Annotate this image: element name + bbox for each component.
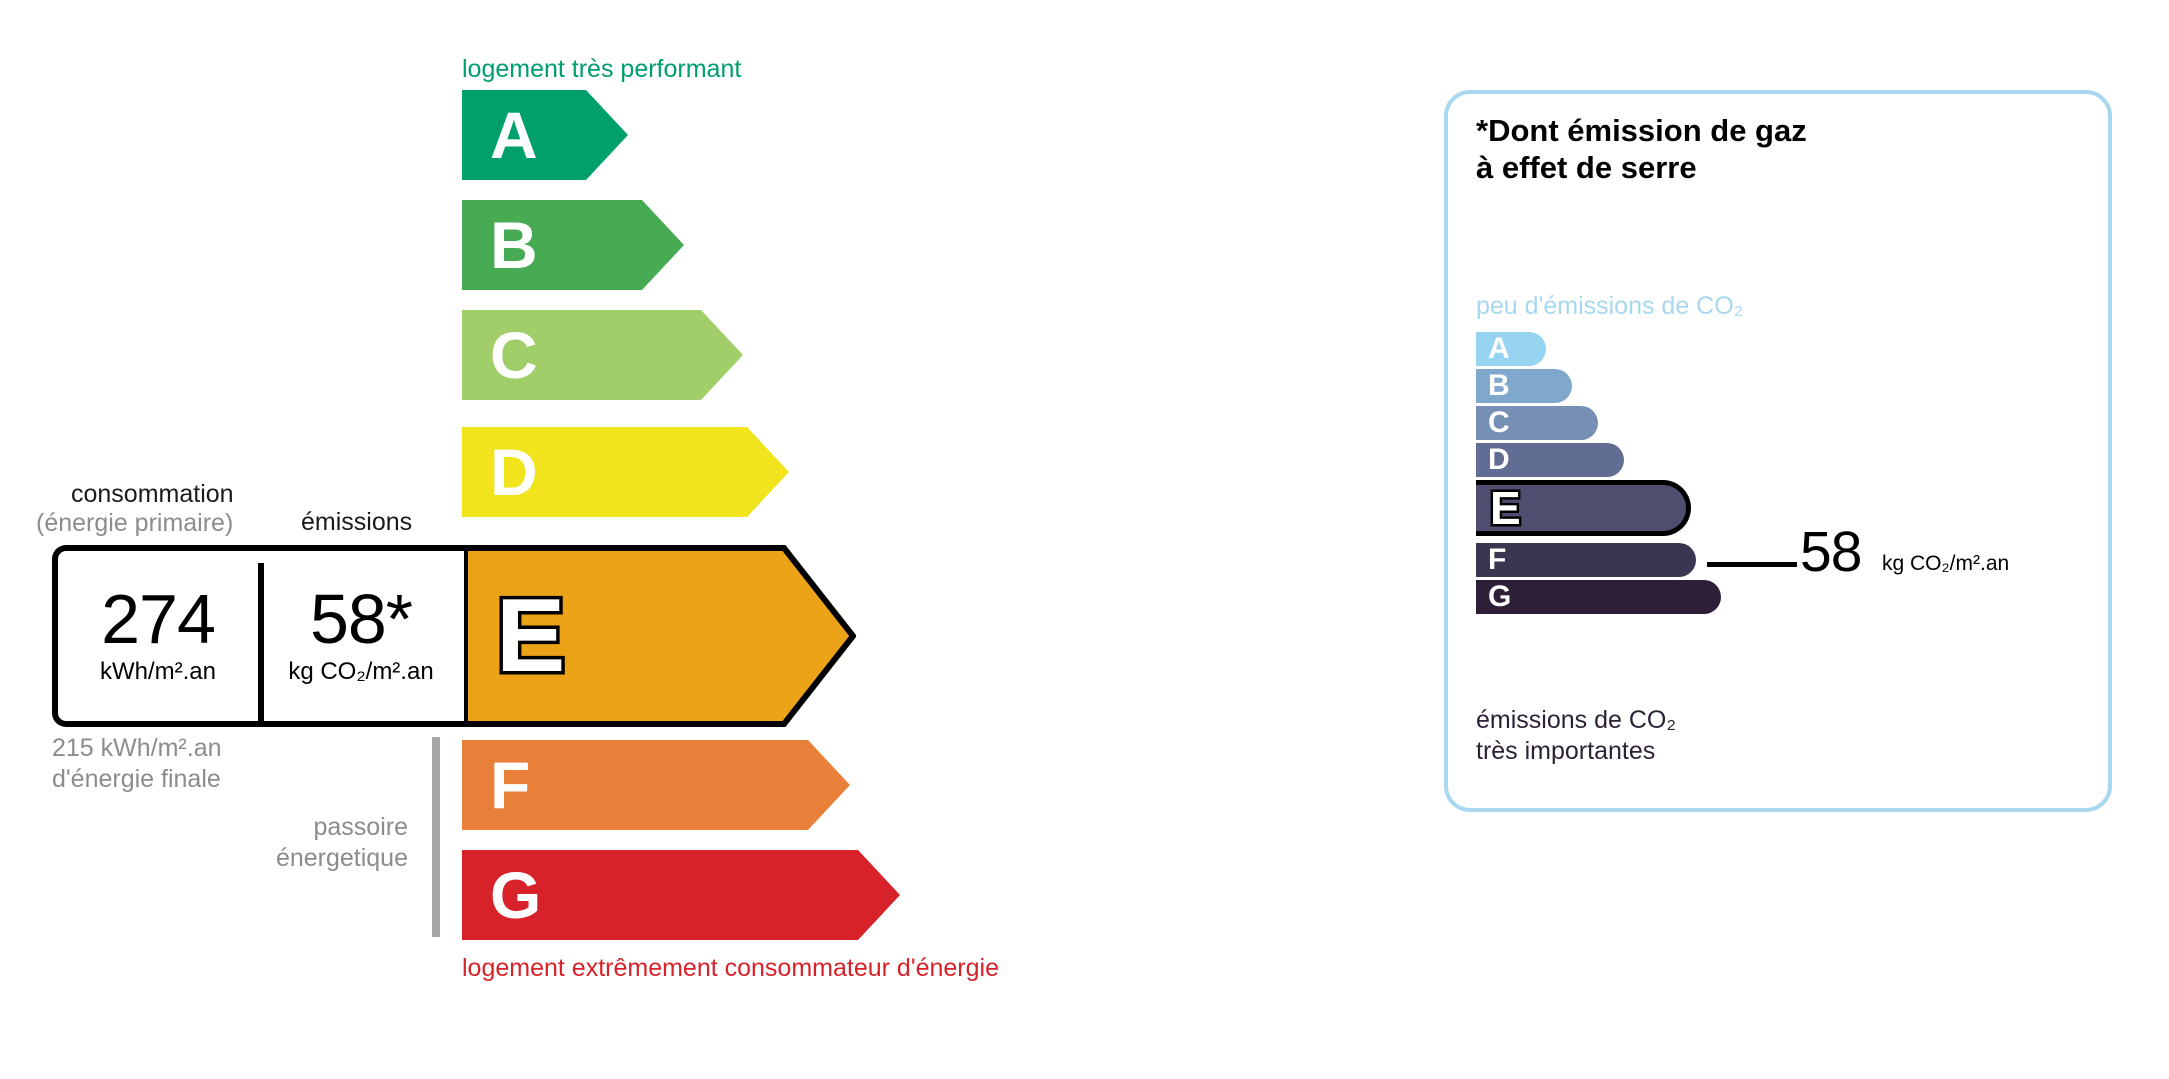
- co2-bar-b-letter: B: [1488, 371, 1510, 401]
- emission-value: 58*: [310, 586, 412, 653]
- energy-scale-bottom-label: logement extrêmement consommateur d'éner…: [462, 954, 999, 983]
- co2-bar-a[interactable]: A: [1476, 332, 1546, 366]
- co2-scale-bottom-label: émissions de CO₂très importantes: [1476, 705, 1676, 766]
- energy-scale-top-label: logement très performant: [462, 55, 741, 84]
- consumption-value-cell: 274 kWh/m².an: [58, 551, 258, 721]
- co2-bar-e-current[interactable]: E: [1476, 480, 1691, 536]
- co2-bar-d[interactable]: D: [1476, 443, 1624, 477]
- co2-emission-panel: *Dont émission de gazà effet de serre pe…: [1444, 90, 2112, 812]
- energy-bar-c[interactable]: C: [462, 310, 743, 400]
- energy-bar-a-shape: [462, 90, 628, 180]
- co2-bar-b[interactable]: B: [1476, 369, 1572, 403]
- co2-callout-value: 58: [1800, 524, 1861, 581]
- energy-bar-b-letter: B: [490, 212, 538, 278]
- co2-bar-g[interactable]: G: [1476, 580, 1721, 614]
- co2-bar-f-letter: F: [1488, 545, 1506, 575]
- consumption-unit: kWh/m².an: [100, 658, 216, 686]
- passoire-energetique-label: passoireénergetique: [148, 812, 408, 873]
- emission-unit: kg CO₂/m².an: [288, 658, 433, 686]
- energy-bar-f-letter: F: [490, 752, 530, 818]
- emissions-label: émissions: [301, 508, 412, 537]
- energy-bar-d-letter: D: [490, 439, 538, 505]
- co2-bar-d-letter: D: [1488, 445, 1510, 475]
- energy-bar-c-letter: C: [490, 322, 538, 388]
- co2-bar-f[interactable]: F: [1476, 543, 1696, 577]
- co2-callout-unit: kg CO₂/m².an: [1882, 552, 2009, 576]
- consumption-label: consommation: [71, 480, 234, 509]
- co2-bar-e-letter: E: [1490, 485, 1521, 531]
- consumption-sublabel: (énergie primaire): [36, 509, 233, 538]
- co2-callout-leader-line: [1707, 562, 1797, 567]
- co2-bar-g-letter: G: [1488, 582, 1511, 612]
- energy-bar-d[interactable]: D: [462, 427, 789, 517]
- energy-bar-e-current[interactable]: E: [462, 545, 856, 727]
- final-energy-label: 215 kWh/m².and'énergie finale: [52, 733, 222, 794]
- energy-bar-e-letter: E: [496, 584, 565, 688]
- co2-bar-a-letter: A: [1488, 334, 1510, 364]
- co2-bar-c[interactable]: C: [1476, 406, 1598, 440]
- co2-bar-c-letter: C: [1488, 408, 1510, 438]
- energy-bar-g-letter: G: [490, 862, 541, 928]
- emission-value-cell: 58* kg CO₂/m².an: [264, 551, 458, 721]
- value-box: 274 kWh/m².an 58* kg CO₂/m².an: [52, 545, 464, 727]
- energy-bar-g[interactable]: G: [462, 850, 900, 940]
- co2-scale-top-label: peu d'émissions de CO₂: [1476, 292, 1743, 321]
- energy-performance-chart: logement très performant A B C D E: [0, 0, 1420, 1079]
- consumption-value: 274: [101, 586, 215, 653]
- energy-bar-a[interactable]: A: [462, 90, 628, 180]
- co2-panel-title: *Dont émission de gazà effet de serre: [1476, 112, 1807, 186]
- energy-bar-b[interactable]: B: [462, 200, 684, 290]
- energy-bar-a-letter: A: [490, 102, 538, 168]
- energy-bar-f[interactable]: F: [462, 740, 850, 830]
- value-box-divider: [258, 563, 264, 721]
- passoire-energetique-rule: [432, 737, 440, 937]
